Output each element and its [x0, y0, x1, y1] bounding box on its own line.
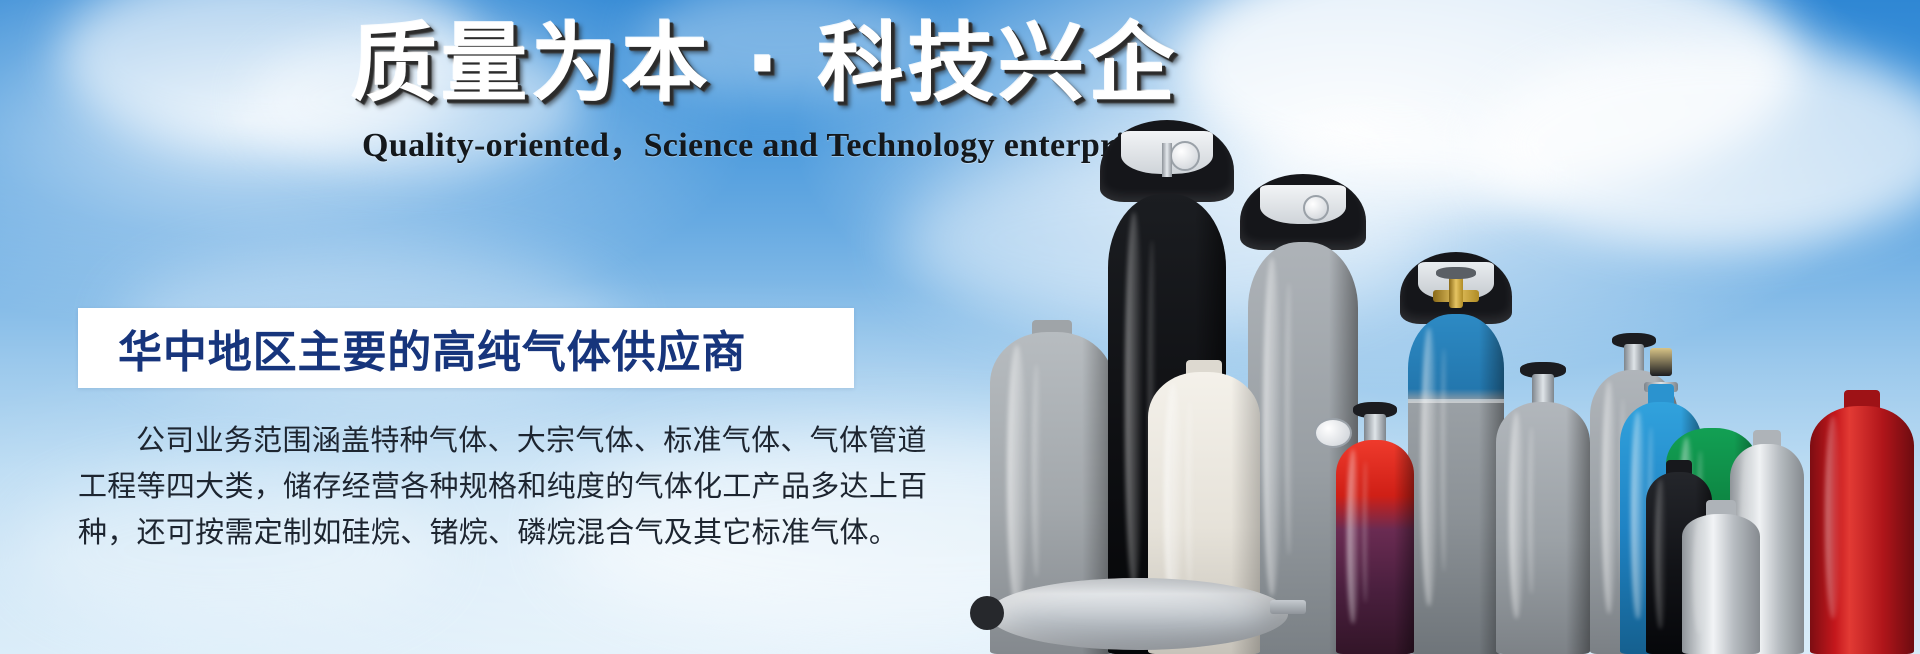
- cylinder-red-large: [1810, 394, 1914, 654]
- cylinder-horizontal-tank: [970, 574, 1300, 654]
- cylinder-blue-grey-brass: [1408, 254, 1504, 654]
- cylinder-aluminium-2: [1682, 504, 1760, 654]
- hero-banner: 质量为本 · 科技兴企 Quality-oriented，Science and…: [0, 0, 1920, 654]
- paragraph-line: 公司业务范围涵盖特种气体、大宗气体、标准气体、气体管道: [78, 418, 868, 464]
- gas-cylinder-group-photo: [930, 0, 1920, 654]
- small-valve-icon: [1650, 348, 1672, 376]
- paragraph-line: 工程等四大类，储存经营各种规格和纯度的气体化工产品多达上百: [78, 464, 868, 510]
- pressure-gauge-icon: [1314, 418, 1352, 448]
- cylinder-grey-valve: [1496, 354, 1590, 654]
- tank-end-cap-icon: [970, 596, 1004, 630]
- highlight-banner-box: 华中地区主要的高纯气体供应商: [78, 308, 854, 388]
- highlight-banner-text: 华中地区主要的高纯气体供应商: [118, 316, 746, 380]
- cylinder-red-purple: [1336, 394, 1414, 654]
- description-paragraph: 公司业务范围涵盖特种气体、大宗气体、标准气体、气体管道 工程等四大类，储存经营各…: [78, 418, 868, 556]
- paragraph-line: 种，还可按需定制如硅烷、锗烷、磷烷混合气及其它标准气体。: [78, 510, 868, 556]
